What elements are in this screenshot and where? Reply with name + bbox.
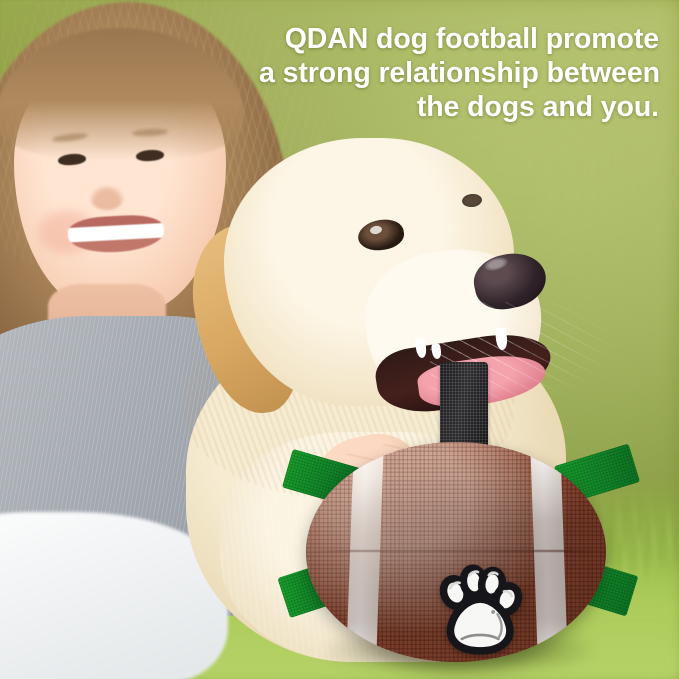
paw-print-icon: [424, 558, 532, 662]
girl-nose: [90, 186, 124, 210]
product-lifestyle-image: QDAN dog football promote a strong relat…: [0, 0, 679, 679]
headline-line-2: a strong relationship between: [259, 56, 659, 90]
toy-ball-body: [306, 442, 606, 662]
headline-line-1: QDAN dog football promote: [259, 22, 659, 56]
headline-text: QDAN dog football promote a strong relat…: [259, 22, 659, 124]
headline-line-3: the dogs and you.: [259, 90, 659, 124]
football-toy: [288, 358, 628, 668]
